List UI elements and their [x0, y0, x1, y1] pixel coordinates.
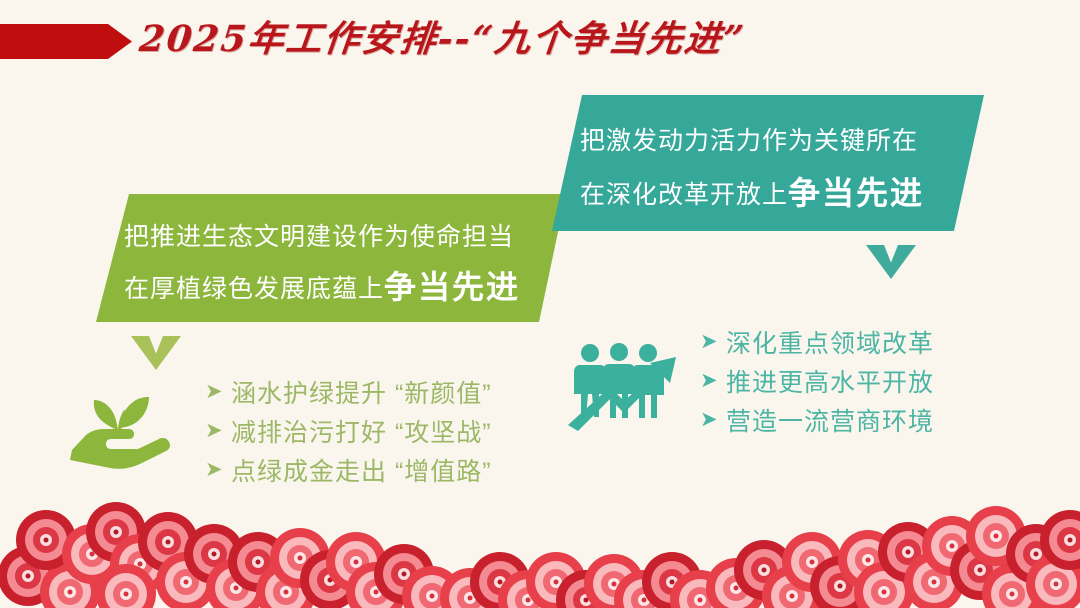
panel-green-line2-emphasis: 争当先进 [384, 269, 520, 305]
hand-holding-sprout-icon [66, 378, 172, 470]
bullet-marker-icon: ➤ [700, 370, 726, 391]
panel-teal-line2-emphasis: 争当先进 [788, 175, 924, 211]
list-item-label: 涵水护绿提升 “新颜值” [231, 374, 492, 410]
panel-teal-line2-prefix: 在深化改革开放上 [580, 181, 788, 209]
panel-teal-line1: 把激发动力活力作为关键所在 [580, 115, 984, 167]
list-item-label: 点绿成金走出 “增值路” [231, 452, 492, 488]
list-item: ➤ 涵水护绿提升 “新颜值” [205, 372, 492, 411]
bullet-marker-icon: ➤ [700, 331, 726, 352]
slide-canvas: 2025年工作安排--“九个争当先进” 把推进生态文明建设作为使命担当 在厚植绿… [0, 0, 1080, 608]
panel-green-line1: 把推进生态文明建设作为使命担当 [124, 212, 566, 262]
title-banner-arrow [0, 24, 132, 59]
bullet-list-teal: ➤ 深化重点领域改革 ➤ 推进更高水平开放 ➤ 营造一流营商环境 [700, 322, 934, 439]
bullet-marker-icon: ➤ [205, 459, 231, 480]
panel-green-line2-prefix: 在厚植绿色发展底蕴上 [124, 275, 384, 303]
title-row: 2025年工作安排--“九个争当先进” [0, 0, 1080, 86]
panel-green-ecology: 把推进生态文明建设作为使命担当 在厚植绿色发展底蕴上争当先进 [96, 194, 566, 322]
list-item-label: 减排治污打好 “攻坚战” [231, 413, 492, 449]
chevron-down-icon-teal [866, 245, 916, 279]
people-growth-arrow-icon [566, 341, 684, 431]
panel-teal-reform: 把激发动力活力作为关键所在 在深化改革开放上争当先进 [552, 95, 984, 231]
list-item: ➤ 营造一流营商环境 [700, 400, 934, 439]
panel-green-line2: 在厚植绿色发展底蕴上争当先进 [124, 262, 566, 314]
panel-teal-line2: 在深化改革开放上争当先进 [580, 167, 984, 221]
bullet-marker-icon: ➤ [205, 381, 231, 402]
bullet-list-green: ➤ 涵水护绿提升 “新颜值” ➤ 减排治污打好 “攻坚战” ➤ 点绿成金走出 “… [205, 372, 492, 489]
bullet-marker-icon: ➤ [205, 420, 231, 441]
list-item-label: 营造一流营商环境 [726, 402, 934, 438]
bullet-marker-icon: ➤ [700, 409, 726, 430]
list-item: ➤ 点绿成金走出 “增值路” [205, 450, 492, 489]
list-item-label: 推进更高水平开放 [726, 363, 934, 399]
list-item: ➤ 减排治污打好 “攻坚战” [205, 411, 492, 450]
page-title: 2025年工作安排--“九个争当先进” [137, 10, 748, 62]
auspicious-clouds-decoration [0, 496, 1080, 608]
list-item: ➤ 深化重点领域改革 [700, 322, 934, 361]
list-item-label: 深化重点领域改革 [726, 324, 934, 360]
chevron-down-icon-green [131, 336, 181, 370]
list-item: ➤ 推进更高水平开放 [700, 361, 934, 400]
